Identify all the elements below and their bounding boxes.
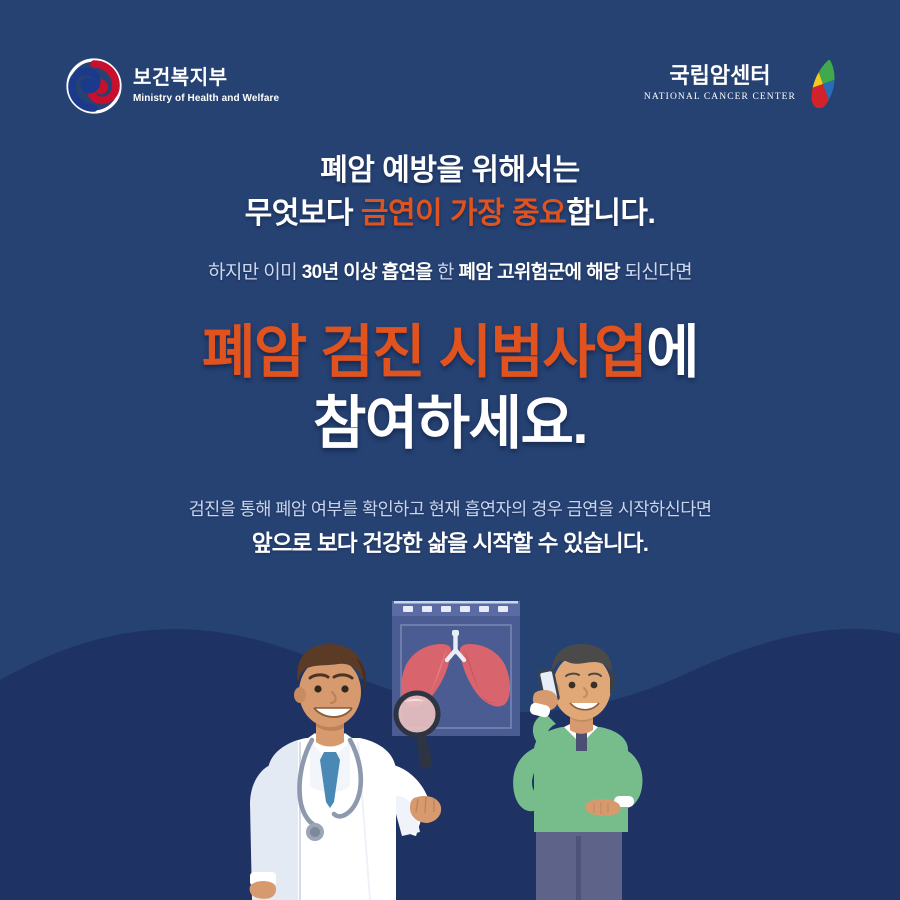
lead-headline: 폐암 예방을 위해서는 무엇보다 금연이 가장 중요합니다. [0,150,900,235]
lead-line-2: 무엇보다 금연이 가장 중요합니다. [0,193,900,236]
outro-block: 검진을 통해 폐암 여부를 확인하고 현재 흡연자의 경우 금연을 시작하신다면… [0,500,900,557]
header-logos: 보건복지부 Ministry of Health and Welfare 국립암… [0,0,900,150]
headline-tail: 에 [646,320,698,385]
taegeuk-emblem [66,58,122,114]
lead-line-2-prefix: 무엇보다 [245,197,361,230]
headline-line-2: 참여하세요. [0,389,900,460]
poster-canvas: 보건복지부 Ministry of Health and Welfare 국립암… [0,0,900,900]
mohw-korean-name: 보건복지부 [133,68,279,88]
mohw-logo: 보건복지부 Ministry of Health and Welfare [66,58,279,114]
outro-line-2: 앞으로 보다 건강한 삶을 시작할 수 있습니다. [0,532,900,557]
condition-middle: 한 [432,262,458,283]
headline-highlight: 폐암 검진 시범사업 [202,320,646,385]
illustration-scene [0,600,900,900]
ncc-leaf-emblem [804,60,842,108]
condition-bold-1: 30년 이상 흡연을 [302,262,433,283]
patient-figure [513,644,642,900]
ncc-english-name: NATIONAL CANCER CENTER [644,93,796,103]
lead-line-2-suffix: 합니다. [566,197,655,230]
headline-line-1: 폐암 검진 시범사업에 [0,318,900,389]
condition-suffix: 되신다면 [620,262,692,283]
main-headline: 폐암 검진 시범사업에 참여하세요. [0,318,900,460]
copy-block: 폐암 예방을 위해서는 무엇보다 금연이 가장 중요합니다. 하지만 이미 30… [0,150,900,557]
mohw-english-name: Ministry of Health and Welfare [133,94,279,104]
condition-prefix: 하지만 이미 [208,262,302,283]
outro-line-1: 검진을 통해 폐암 여부를 확인하고 현재 흡연자의 경우 금연을 시작하신다면 [189,499,712,519]
ncc-korean-name: 국립암센터 [669,65,770,87]
condition-line: 하지만 이미 30년 이상 흡연을 한 폐암 고위험군에 해당 되신다면 [0,257,900,284]
lead-line-1: 폐암 예방을 위해서는 [0,150,900,193]
ncc-logo: 국립암센터 NATIONAL CANCER CENTER [644,60,842,108]
condition-bold-2: 폐암 고위험군에 해당 [459,262,620,283]
magnifying-glass [396,693,438,769]
lead-line-2-highlight: 금연이 가장 중요 [361,197,566,230]
